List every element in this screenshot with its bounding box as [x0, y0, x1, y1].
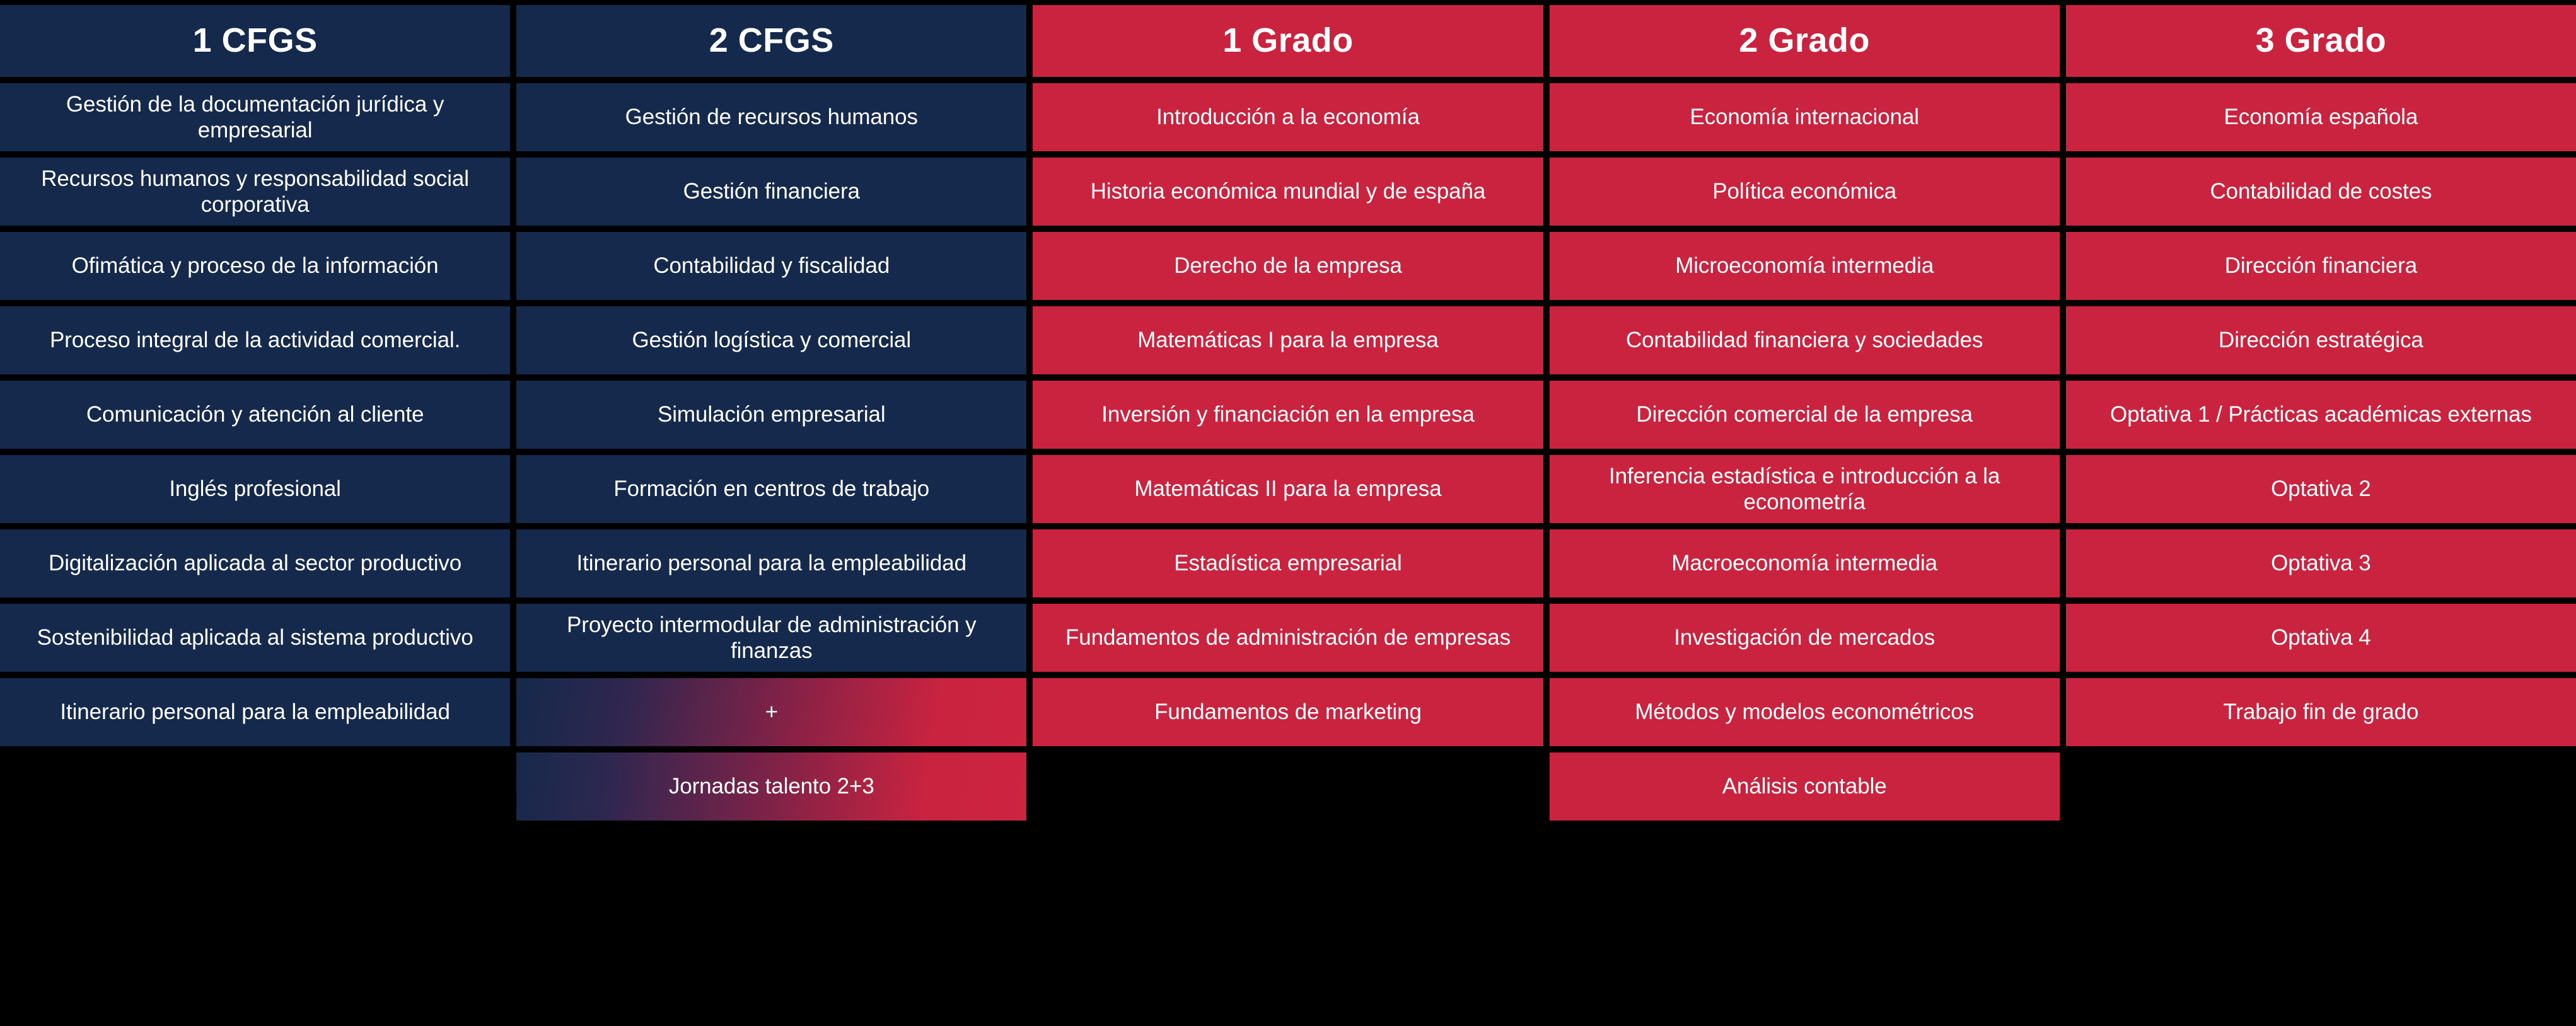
empty-cell [1033, 752, 1543, 821]
subject-cell: Comunicación y atención al cliente [0, 381, 510, 449]
subject-cell: Gestión financiera [516, 158, 1026, 226]
subject-cell: Economía española [2066, 83, 2576, 151]
subject-cell: Investigación de mercados [1550, 604, 2060, 672]
subject-cell: Proyecto intermodular de administración … [516, 604, 1026, 672]
column-header: 1 Grado [1033, 5, 1543, 77]
column-header: 3 Grado [2066, 5, 2576, 77]
subject-cell: Optativa 3 [2066, 529, 2576, 597]
empty-cell [2066, 752, 2576, 821]
subject-cell: Trabajo fin de grado [2066, 678, 2576, 746]
subject-cell: Gestión de recursos humanos [516, 83, 1026, 151]
subject-cell: Formación en centros de trabajo [516, 455, 1026, 523]
subject-cell: Matemáticas II para la empresa [1033, 455, 1543, 523]
subject-cell: Inferencia estadística e introducción a … [1550, 455, 2060, 523]
subject-cell: Optativa 2 [2066, 455, 2576, 523]
subject-cell: Política económica [1550, 158, 2060, 226]
column-header: 1 CFGS [0, 5, 510, 77]
subject-cell: Macroeconomía intermedia [1550, 529, 2060, 597]
subject-cell: Optativa 4 [2066, 604, 2576, 672]
column-header: 2 CFGS [516, 5, 1026, 77]
subject-cell: Inglés profesional [0, 455, 510, 523]
subject-cell: + [516, 678, 1026, 746]
subject-cell: Itinerario personal para la empleabilida… [0, 678, 510, 746]
subject-cell: Gestión de la documentación jurídica y e… [0, 83, 510, 151]
curriculum-table: 1 CFGS2 CFGS1 Grado2 Grado3 GradoGestión… [0, 0, 2576, 1026]
subject-cell: Sostenibilidad aplicada al sistema produ… [0, 604, 510, 672]
subject-cell: Optativa 1 / Prácticas académicas extern… [2066, 381, 2576, 449]
subject-cell: Dirección financiera [2066, 232, 2576, 300]
subject-cell: Itinerario personal para la empleabilida… [516, 529, 1026, 597]
subject-cell: Ofimática y proceso de la información [0, 232, 510, 300]
subject-cell: Fundamentos de marketing [1033, 678, 1543, 746]
subject-cell: Estadística empresarial [1033, 529, 1543, 597]
subject-cell: Economía internacional [1550, 83, 2060, 151]
subject-cell: Simulación empresarial [516, 381, 1026, 449]
empty-cell [0, 752, 510, 821]
subject-cell: Dirección estratégica [2066, 306, 2576, 374]
subject-cell: Digitalización aplicada al sector produc… [0, 529, 510, 597]
subject-cell: Contabilidad financiera y sociedades [1550, 306, 2060, 374]
subject-cell: Recursos humanos y responsabilidad socia… [0, 158, 510, 226]
subject-cell: Contabilidad y fiscalidad [516, 232, 1026, 300]
subject-cell: Dirección comercial de la empresa [1550, 381, 2060, 449]
subject-cell: Proceso integral de la actividad comerci… [0, 306, 510, 374]
subject-cell: Métodos y modelos econométricos [1550, 678, 2060, 746]
subject-cell: Historia económica mundial y de españa [1033, 158, 1543, 226]
subject-cell: Contabilidad de costes [2066, 158, 2576, 226]
subject-cell: Introducción a la economía [1033, 83, 1543, 151]
subject-cell: Matemáticas I para la empresa [1033, 306, 1543, 374]
subject-cell: Derecho de la empresa [1033, 232, 1543, 300]
subject-cell: Fundamentos de administración de empresa… [1033, 604, 1543, 672]
subject-cell: Inversión y financiación en la empresa [1033, 381, 1543, 449]
subject-cell: Gestión logística y comercial [516, 306, 1026, 374]
subject-cell: Análisis contable [1550, 752, 2060, 821]
subject-cell: Microeconomía intermedia [1550, 232, 2060, 300]
column-header: 2 Grado [1550, 5, 2060, 77]
subject-cell: Jornadas talento 2+3 [516, 752, 1026, 821]
